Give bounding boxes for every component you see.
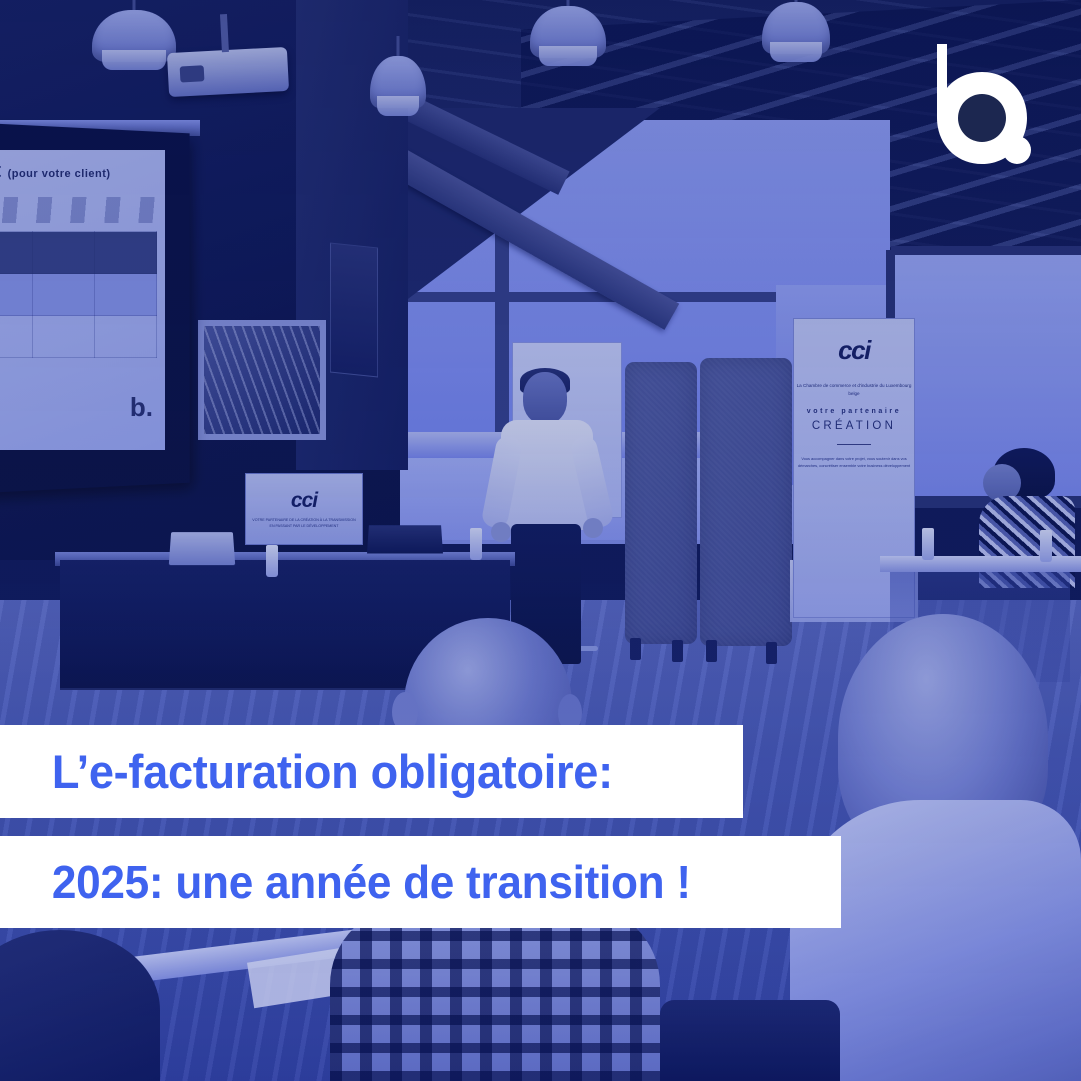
- slide-title: ant (pour votre client): [0, 160, 157, 183]
- panel-foot: [630, 638, 641, 660]
- pendant-lamp: [530, 0, 606, 72]
- panel-foot: [672, 640, 683, 662]
- laptop: [169, 532, 235, 565]
- headline-line-1: L’e-facturation obligatoire:: [0, 744, 613, 799]
- pendant-lamp: [92, 0, 176, 80]
- rollup-line-1: La Chambre de commerce et d'industrie du…: [794, 382, 914, 398]
- pendant-lamp: [762, 0, 830, 62]
- slide-table: [0, 231, 157, 358]
- pendant-lamp: [370, 36, 426, 106]
- cci-logo: cci: [291, 489, 317, 513]
- wall-speaker: [330, 242, 378, 377]
- headline-banner-primary: L’e-facturation obligatoire:: [0, 725, 743, 818]
- rollup-line-4: Vous accompagner dans votre projet, vous…: [794, 455, 914, 471]
- foreground-chair: [660, 1000, 840, 1081]
- laptop-secondary: [367, 525, 443, 553]
- slide-handwriting: [0, 197, 157, 223]
- rollup-line-3: CRÉATION: [812, 420, 896, 432]
- slide-brand-logo: b.: [130, 398, 153, 416]
- ceiling-projector: [167, 47, 289, 97]
- panel-foot: [766, 642, 777, 664]
- promo-card: ant (pour votre client) b. cci: [0, 0, 1081, 1081]
- room-divider-panel: [625, 362, 697, 644]
- window-frame: [891, 246, 1081, 255]
- projected-slide: ant (pour votre client) b.: [0, 150, 165, 450]
- room-divider-panel: [700, 358, 792, 646]
- panel-foot: [706, 640, 717, 662]
- podium-sign-subtitle: VOTRE PARTENAIRE DE LA CRÉATION À LA TRA…: [250, 518, 358, 529]
- speaker-head: [523, 372, 567, 424]
- podium-cci-sign: cci VOTRE PARTENAIRE DE LA CRÉATION À LA…: [245, 473, 363, 545]
- headline-line-2: 2025: une année de transition !: [0, 855, 691, 909]
- headline-banner-secondary: 2025: une année de transition !: [0, 836, 841, 928]
- framed-artwork: [198, 320, 326, 440]
- water-bottle: [470, 528, 482, 560]
- water-bottle: [266, 545, 278, 577]
- speaker-hand-right: [583, 518, 603, 538]
- brand-logo: [913, 42, 1033, 167]
- rollup-line-2: votre partenaire: [807, 408, 902, 415]
- water-bottle: [1040, 530, 1052, 562]
- speaker-hand-left: [491, 522, 511, 542]
- cci-logo: cci: [838, 335, 870, 366]
- rollup-divider: [837, 444, 871, 445]
- water-bottle: [922, 528, 934, 560]
- foreground-plaid-shirt: [330, 905, 660, 1081]
